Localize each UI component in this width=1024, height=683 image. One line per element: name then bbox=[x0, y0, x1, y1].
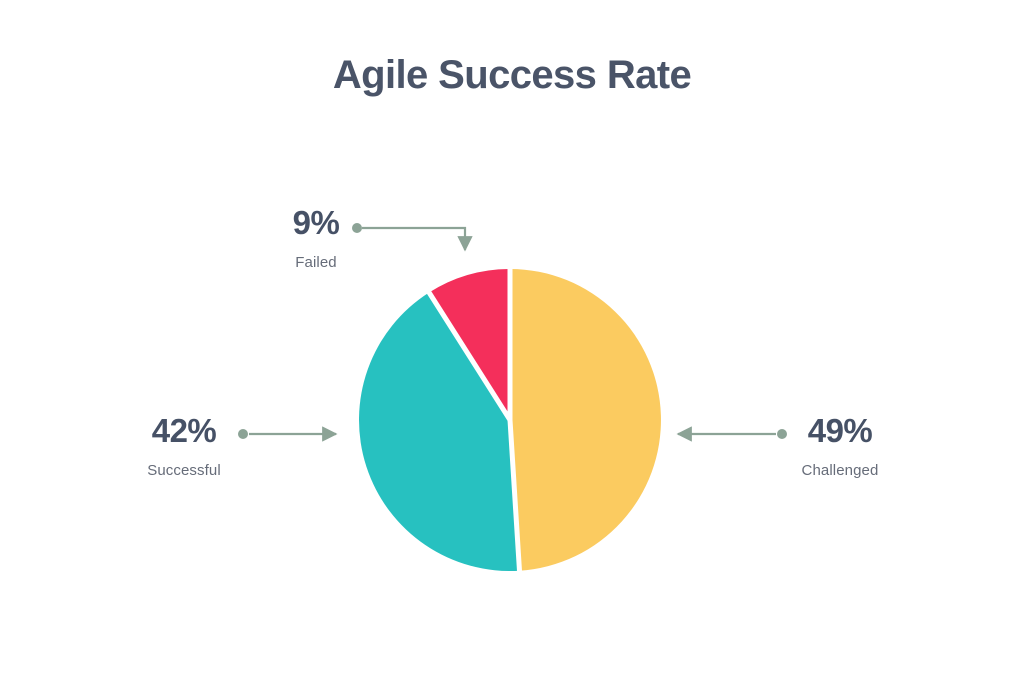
callout-successful: 42% Successful bbox=[80, 414, 288, 478]
callout-failed: 9% Failed bbox=[232, 206, 400, 270]
callout-challenged-label: Challenged bbox=[736, 463, 944, 478]
chart-title: Agile Success Rate bbox=[0, 52, 1024, 98]
callout-successful-label: Successful bbox=[80, 463, 288, 478]
pie-svg bbox=[359, 269, 661, 571]
callout-failed-value: 9% bbox=[232, 206, 400, 239]
callout-failed-label: Failed bbox=[232, 255, 400, 270]
callout-challenged: 49% Challenged bbox=[736, 414, 944, 478]
callout-challenged-value: 49% bbox=[736, 414, 944, 447]
callout-successful-value: 42% bbox=[80, 414, 288, 447]
pie-slice-challenged[interactable] bbox=[510, 269, 661, 571]
pie-chart bbox=[359, 269, 661, 571]
chart-canvas: Agile Success Rate bbox=[0, 0, 1024, 683]
